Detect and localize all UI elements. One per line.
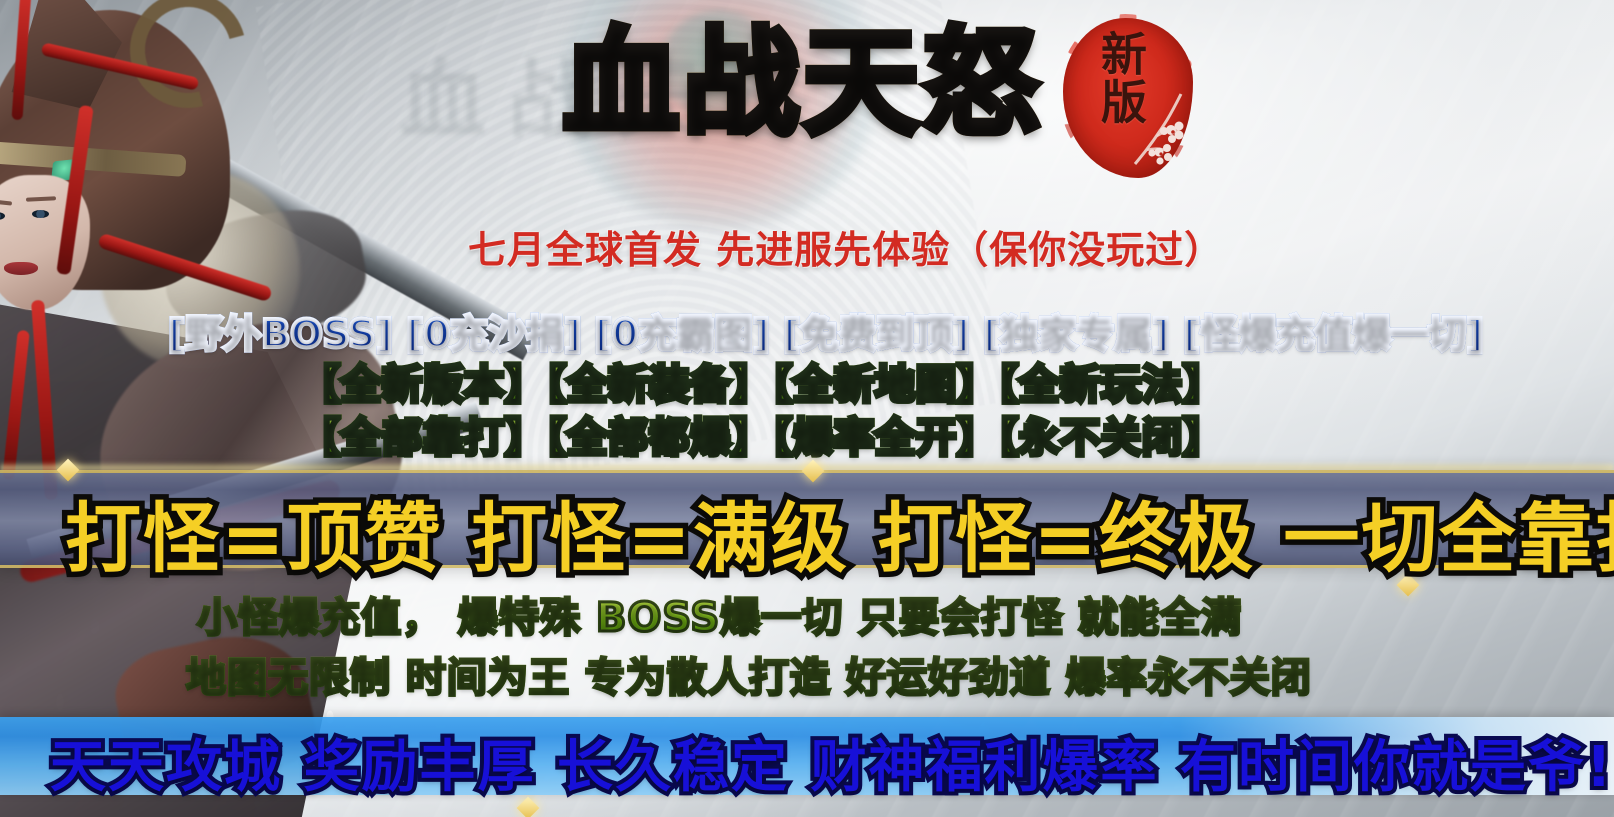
launch-subtitle: 七月全球首发 先进服先体验（保你没玩过） — [468, 219, 1223, 274]
feature-tags-row: [野外BOSS] [0充沙捐] [0充霸图] [免费到顶] [独家专属] [怪爆… — [168, 303, 1484, 358]
new-version-seal: 新版 — [1063, 18, 1193, 178]
game-promo-banner: 血战天怒 血战天怒 新版 — [0, 0, 1614, 817]
main-slogan: 打怪=顶赞 打怪=满级 打怪=终极 一切全靠打 — [65, 477, 1614, 587]
plum-blossom-icon — [1127, 90, 1189, 168]
feature-description-row-2: 地图无限制 时间为王 专为散人打造 好运好劲道 爆率永不关闭 — [186, 645, 1312, 703]
character-eye-right — [32, 210, 49, 218]
new-content-row-2: 【全部靠打】【全部都爆】【爆率全开】【永不关闭】 — [300, 405, 1224, 463]
feature-description-row-1: 小怪爆充值， 爆特殊 BOSS爆一切 只要会打怪 就能全满 — [197, 585, 1242, 643]
game-title: 血战天怒 — [563, 20, 1043, 148]
character-lips — [4, 262, 38, 275]
bottom-slogan: 天天攻城 奖励丰厚 长久稳定 财神福利爆率 有时间你就是爷! — [50, 722, 1614, 803]
new-content-row-1: 【全新版本】【全新装备】【全新地图】【全新玩法】 — [300, 352, 1224, 410]
